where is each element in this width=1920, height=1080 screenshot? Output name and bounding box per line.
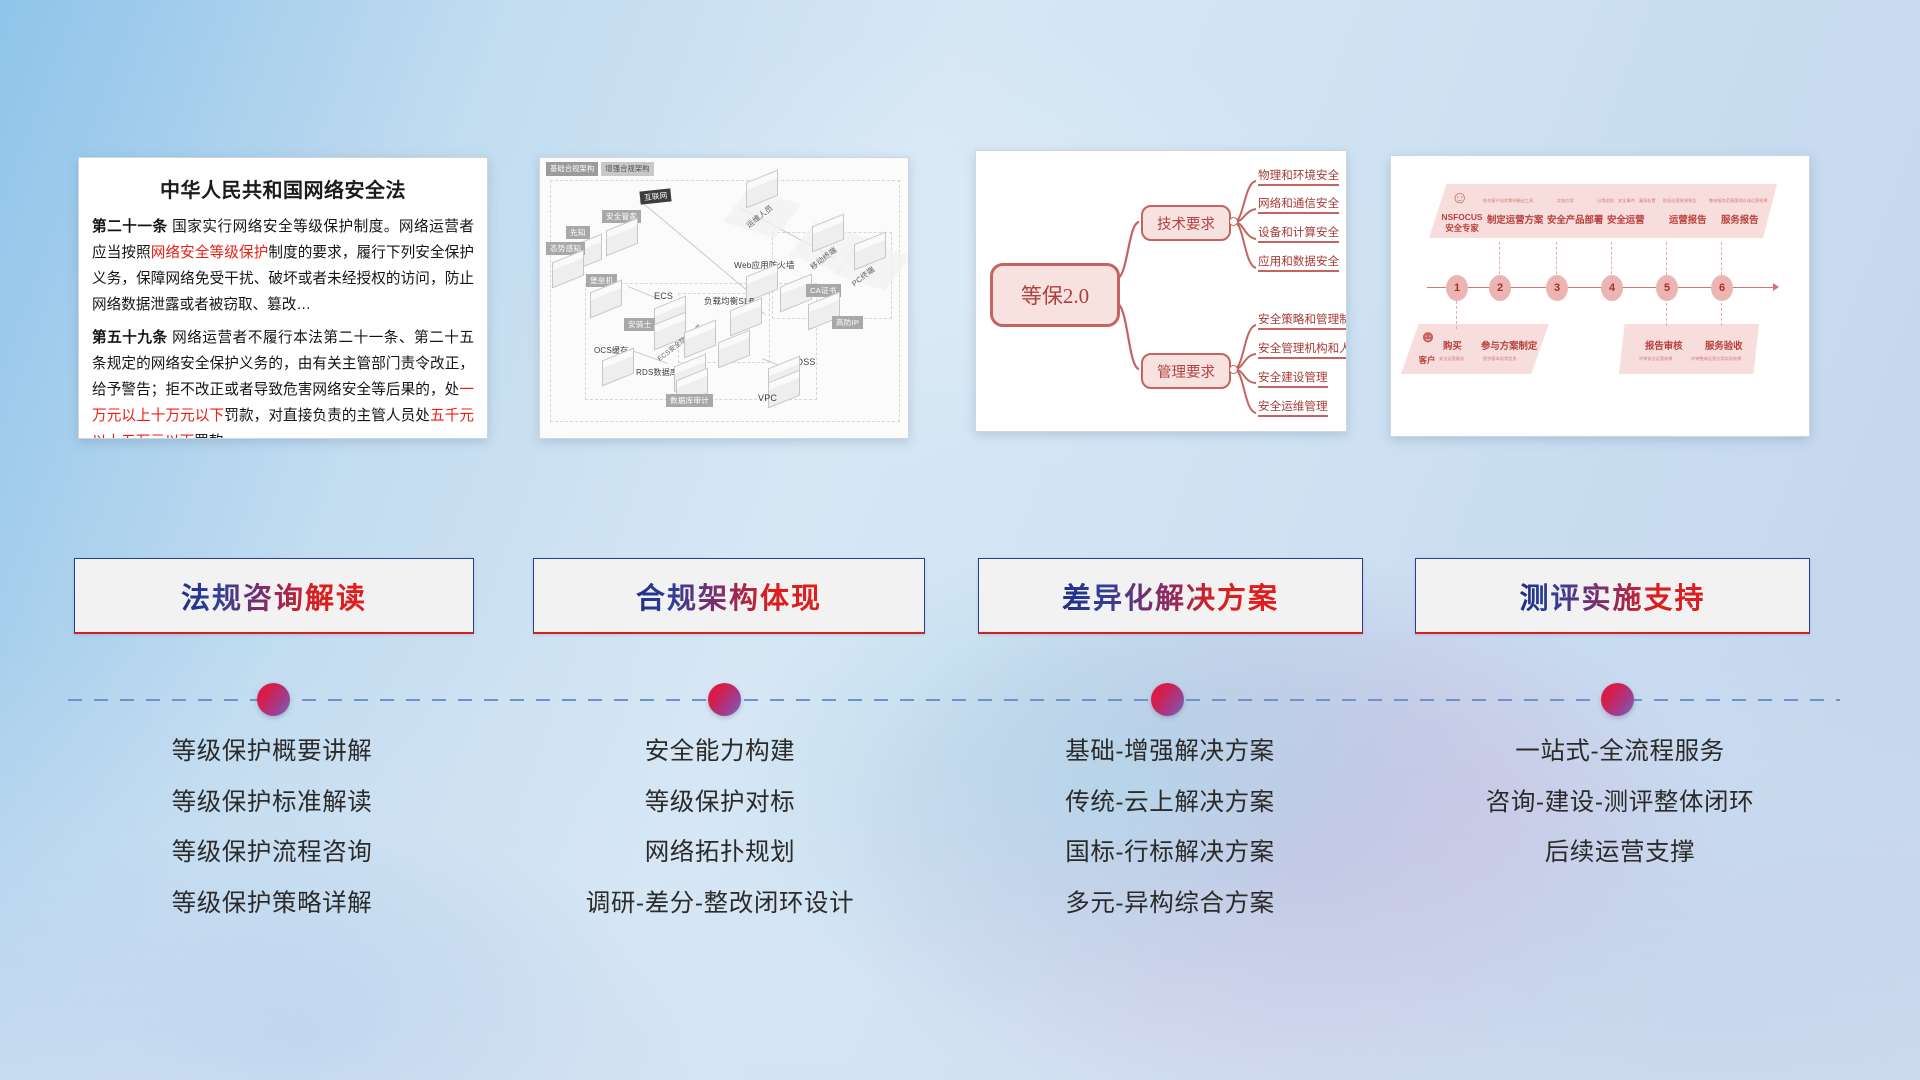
roadmap-bottom-title-4: 服务验收 — [1705, 338, 1743, 352]
law-text-card: 中华人民共和国网络安全法 第二十一条 国家实行网络安全等级保护制度。网络运营者应… — [78, 157, 488, 439]
node-anqishi-label: 安骑士 — [624, 318, 655, 331]
roadmap-bottom-title-3: 报告审核 — [1645, 338, 1683, 352]
service-roadmap-card: ☺ NSFOCUS安全专家 ☻ 客户 结合客户现状需明确出工具 制定运营方案 实… — [1390, 155, 1810, 437]
roadmap-top-sub-3: 日常巡检、安全事件、漏洞处置 — [1597, 198, 1656, 204]
roadmap-tick-2 — [1499, 242, 1501, 274]
law-article-21: 第二十一条 国家实行网络安全等级保护制度。网络运营者应当按照网络安全等级保护制度… — [92, 215, 474, 319]
heading-label-1: 法规咨询解读 — [181, 575, 367, 617]
list-item: 安全能力构建 — [500, 740, 940, 765]
list-item: 等级保护概要讲解 — [52, 740, 492, 765]
node-xianzhi-label: 先知 — [566, 226, 590, 239]
heading-label-4: 测评实施支持 — [1519, 575, 1705, 617]
architecture-tabs: 基础合规架构 增强合规架构 — [546, 162, 654, 176]
roadmap-top-sub-1: 结合客户现状需明确出工具 — [1483, 198, 1533, 204]
roadmap-expert-label: NSFOCUS安全专家 — [1435, 212, 1489, 233]
node-anti-ddos-ip-label: 高防IP — [832, 316, 863, 329]
roadmap-top-title-5: 服务报告 — [1721, 212, 1759, 226]
node-database-audit-label: 数据库审计 — [666, 394, 713, 407]
article-21-highlight: 网络安全等级保护 — [151, 245, 269, 261]
timeline-dot-1[interactable] — [257, 683, 290, 716]
mindmap-leaf-physical-env: 物理和环境安全 — [1258, 167, 1339, 186]
roadmap-step-3[interactable]: 3 — [1546, 275, 1568, 301]
mindmap-leaf-network-comm: 网络和通信安全 — [1258, 195, 1339, 214]
roadmap-step-6[interactable]: 6 — [1711, 275, 1733, 301]
roadmap-tick-3 — [1556, 242, 1558, 274]
list-item: 多元-异构综合方案 — [950, 892, 1390, 917]
mindmap-branch-technical[interactable]: 技术要求 — [1141, 205, 1231, 241]
list-item: 传统-云上解决方案 — [950, 791, 1390, 816]
person-check-icon: ☻ — [1419, 328, 1437, 345]
architecture-diagram-card: 基础合规架构 增强合规架构 互联网 — [539, 157, 909, 439]
roadmap-bottom-title-2: 参与方案制定 — [1481, 338, 1537, 352]
timeline-dot-4[interactable] — [1601, 683, 1634, 716]
list-item: 等级保护标准解读 — [52, 791, 492, 816]
mindmap-leaf-ops-mgmt: 安全运维管理 — [1258, 398, 1328, 417]
list-item: 网络拓扑规划 — [500, 841, 940, 866]
roadmap-top-sub-5: 整体服务范围落地总体运营效果 — [1709, 198, 1768, 204]
list-column-1: 等级保护概要讲解 等级保护标准解读 等级保护流程咨询 等级保护策略详解 — [52, 740, 492, 942]
article-59-text-after: 罚款。 — [194, 434, 238, 439]
law-card-title: 中华人民共和国网络安全法 — [92, 174, 474, 203]
list-item: 等级保护策略详解 — [52, 892, 492, 917]
timeline-dashed-line — [68, 699, 1840, 701]
heading-box-compliance-architecture[interactable]: 合规架构体现 — [533, 558, 925, 634]
mindmap-branch-management[interactable]: 管理要求 — [1141, 353, 1231, 389]
mindmap-leaf-app-data: 应用和数据安全 — [1258, 253, 1339, 272]
list-item: 一站式-全流程服务 — [1400, 740, 1840, 765]
roadmap-top-sub-4: 阶段运营效果报告 — [1663, 198, 1697, 204]
roadmap-tick-1 — [1456, 301, 1458, 329]
mindmap-canvas: 等保2.0 技术要求 物理和环境安全 网络和通信安全 设备和计算安全 应用和数据… — [976, 151, 1346, 431]
mindmap-collapse-icon-management[interactable] — [1229, 365, 1238, 374]
slide-stage: 中华人民共和国网络安全法 第二十一条 国家实行网络安全等级保护制度。网络运营者应… — [0, 0, 1920, 1080]
heading-label-3: 差异化解决方案 — [1062, 575, 1279, 617]
mindmap-collapse-icon-technical[interactable] — [1229, 217, 1238, 226]
mindmap-root-node[interactable]: 等保2.0 — [990, 263, 1120, 327]
list-item: 咨询-建设-测评整体闭环 — [1400, 791, 1840, 816]
list-item: 基础-增强解决方案 — [950, 740, 1390, 765]
roadmap-axis-arrow-icon — [1773, 283, 1779, 291]
list-column-3: 基础-增强解决方案 传统-云上解决方案 国标-行标解决方案 多元-异构综合方案 — [950, 740, 1390, 942]
roadmap-bottom-title-1: 购买 — [1443, 338, 1462, 352]
mindmap-leaf-org-personnel: 安全管理机构和人员 — [1258, 340, 1347, 359]
heading-box-regulation-consulting[interactable]: 法规咨询解读 — [74, 558, 474, 634]
article-59-text-middle: 罚款，对直接负责的主管人员处 — [224, 408, 430, 424]
roadmap-step-2[interactable]: 2 — [1489, 275, 1511, 301]
mindmap-leaf-device-compute: 设备和计算安全 — [1258, 224, 1339, 243]
law-article-59: 第五十九条 网络运营者不履行本法第二十一条、第二十五条规定的网络安全保护义务的，… — [92, 326, 474, 439]
heading-box-assessment-support[interactable]: 测评实施支持 — [1415, 558, 1810, 634]
article-59-label: 第五十九条 — [92, 330, 168, 346]
mindmap-card: 等保2.0 技术要求 物理和环境安全 网络和通信安全 设备和计算安全 应用和数据… — [975, 150, 1347, 432]
heading-label-2: 合规架构体现 — [636, 575, 822, 617]
mindmap-leaf-policy-system: 安全策略和管理制度 — [1258, 311, 1347, 330]
roadmap-top-sub-2: 实施方案 — [1557, 198, 1574, 204]
tab-basic-architecture[interactable]: 基础合规架构 — [546, 162, 598, 176]
architecture-canvas: 基础合规架构 增强合规架构 互联网 — [540, 158, 908, 438]
article-21-label: 第二十一条 — [92, 219, 168, 235]
roadmap-bottom-sub-3: 评审安全运营效果 — [1639, 356, 1673, 362]
roadmap-canvas: ☺ NSFOCUS安全专家 ☻ 客户 结合客户现状需明确出工具 制定运营方案 实… — [1391, 156, 1809, 436]
roadmap-step-5[interactable]: 5 — [1656, 275, 1678, 301]
roadmap-bottom-sub-1: 安全运营服务 — [1439, 356, 1464, 362]
list-column-4: 一站式-全流程服务 咨询-建设-测评整体闭环 后续运营支撑 — [1400, 740, 1840, 892]
roadmap-tick-4 — [1611, 242, 1613, 274]
mindmap-leaf-construction-mgmt: 安全建设管理 — [1258, 369, 1328, 388]
roadmap-bottom-sub-4: 评审整体运营方案实现效果 — [1691, 356, 1741, 362]
roadmap-top-title-1: 制定运营方案 — [1487, 212, 1543, 226]
list-item: 等级保护对标 — [500, 791, 940, 816]
roadmap-customer-label: 客户 — [1413, 354, 1441, 366]
list-item: 等级保护流程咨询 — [52, 841, 492, 866]
roadmap-top-title-4: 运营报告 — [1669, 212, 1707, 226]
timeline-dot-2[interactable] — [708, 683, 741, 716]
tab-enhanced-architecture[interactable]: 增强合规架构 — [601, 162, 653, 176]
heading-box-differentiated-solution[interactable]: 差异化解决方案 — [978, 558, 1363, 634]
list-item: 后续运营支撑 — [1400, 841, 1840, 866]
roadmap-step-1[interactable]: 1 — [1446, 275, 1468, 301]
list-column-2: 安全能力构建 等级保护对标 网络拓扑规划 调研-差分-整改闭环设计 — [500, 740, 940, 942]
list-item: 调研-差分-整改闭环设计 — [500, 892, 940, 917]
node-vpc-label: VPC — [754, 392, 781, 404]
roadmap-step-4[interactable]: 4 — [1601, 275, 1623, 301]
list-item: 国标-行标解决方案 — [950, 841, 1390, 866]
person-star-icon: ☺ — [1451, 189, 1468, 206]
roadmap-top-title-2: 安全产品部署 — [1547, 212, 1603, 226]
timeline-dot-3[interactable] — [1151, 683, 1184, 716]
roadmap-top-title-3: 安全运营 — [1607, 212, 1645, 226]
roadmap-bottom-sub-2: 提供基本现状信息 — [1483, 356, 1517, 362]
